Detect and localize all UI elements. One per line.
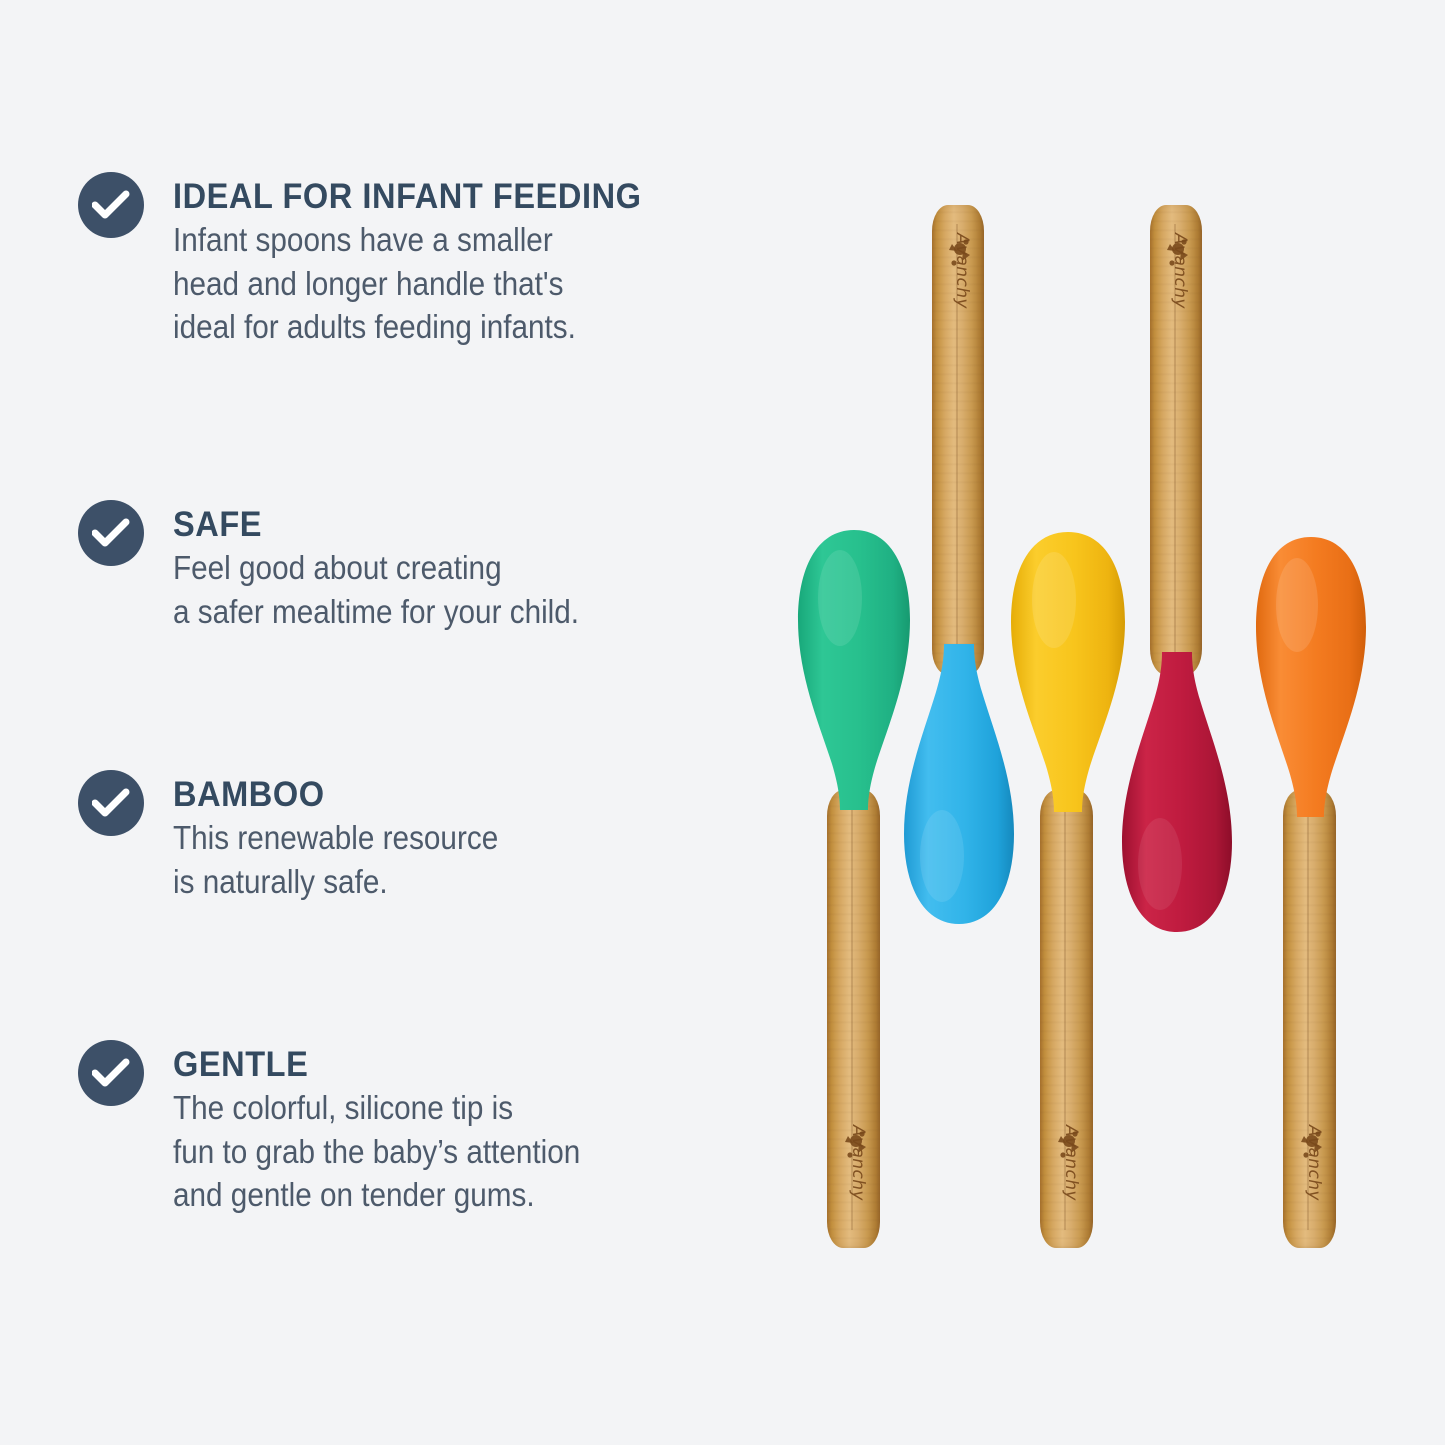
- feature-title: BAMBOO: [173, 777, 509, 812]
- feature-line: This renewable resource: [173, 816, 498, 860]
- silicone-tip-blue: [902, 640, 1016, 928]
- feature-line: Feel good about creating: [173, 546, 579, 590]
- feature-description: Infant spoons have a smaller head and lo…: [173, 218, 626, 349]
- feature-title: SAFE: [173, 507, 593, 542]
- avanchy-brand-logo: Avanchy: [1061, 1125, 1081, 1201]
- feature-body: SAFE Feel good about creating a safer me…: [173, 507, 624, 633]
- feature-line: and gentle on tender gums.: [173, 1173, 580, 1217]
- spoon-product-image: Avanchy: [760, 0, 1445, 1445]
- feature-description: The colorful, silicone tip is fun to gra…: [173, 1086, 580, 1217]
- infographic-canvas: IDEAL FOR INFANT FEEDING Infant spoons h…: [0, 0, 1445, 1445]
- feature-line: Infant spoons have a smaller: [173, 218, 626, 262]
- check-circle-icon: [78, 172, 144, 238]
- feature-body: IDEAL FOR INFANT FEEDING Infant spoons h…: [173, 179, 677, 349]
- feature-line: The colorful, silicone tip is: [173, 1086, 580, 1130]
- feature-title: GENTLE: [173, 1047, 594, 1082]
- feature-gentle: GENTLE The colorful, silicone tip is fun…: [78, 1040, 626, 1217]
- silicone-tip-green: [796, 528, 912, 818]
- feature-safe: SAFE Feel good about creating a safer me…: [78, 500, 624, 633]
- feature-line: a safer mealtime for your child.: [173, 590, 579, 634]
- check-circle-icon: [78, 770, 144, 836]
- silicone-tip-orange: [1254, 535, 1368, 823]
- avanchy-brand-logo: Avanchy: [848, 1125, 868, 1201]
- feature-line: fun to grab the baby’s attention: [173, 1130, 580, 1174]
- avanchy-brand-logo: Avanchy: [1304, 1125, 1324, 1201]
- feature-line: is naturally safe.: [173, 860, 498, 904]
- feature-line: ideal for adults feeding infants.: [173, 305, 626, 349]
- check-circle-icon: [78, 1040, 144, 1106]
- feature-ideal-for-infant-feeding: IDEAL FOR INFANT FEEDING Infant spoons h…: [78, 172, 677, 349]
- feature-body: BAMBOO This renewable resource is natura…: [173, 777, 534, 903]
- feature-description: This renewable resource is naturally saf…: [173, 816, 498, 903]
- silicone-tip-red: [1120, 648, 1234, 938]
- feature-bamboo: BAMBOO This renewable resource is natura…: [78, 770, 534, 903]
- feature-body: GENTLE The colorful, silicone tip is fun…: [173, 1047, 626, 1217]
- feature-list: IDEAL FOR INFANT FEEDING Infant spoons h…: [0, 0, 800, 1445]
- feature-description: Feel good about creating a safer mealtim…: [173, 546, 579, 633]
- feature-title: IDEAL FOR INFANT FEEDING: [173, 179, 642, 214]
- avanchy-brand-logo: Avanchy: [1170, 233, 1190, 309]
- avanchy-brand-logo: Avanchy: [952, 233, 972, 309]
- check-circle-icon: [78, 500, 144, 566]
- feature-line: head and longer handle that's: [173, 262, 626, 306]
- silicone-tip-yellow: [1009, 530, 1127, 820]
